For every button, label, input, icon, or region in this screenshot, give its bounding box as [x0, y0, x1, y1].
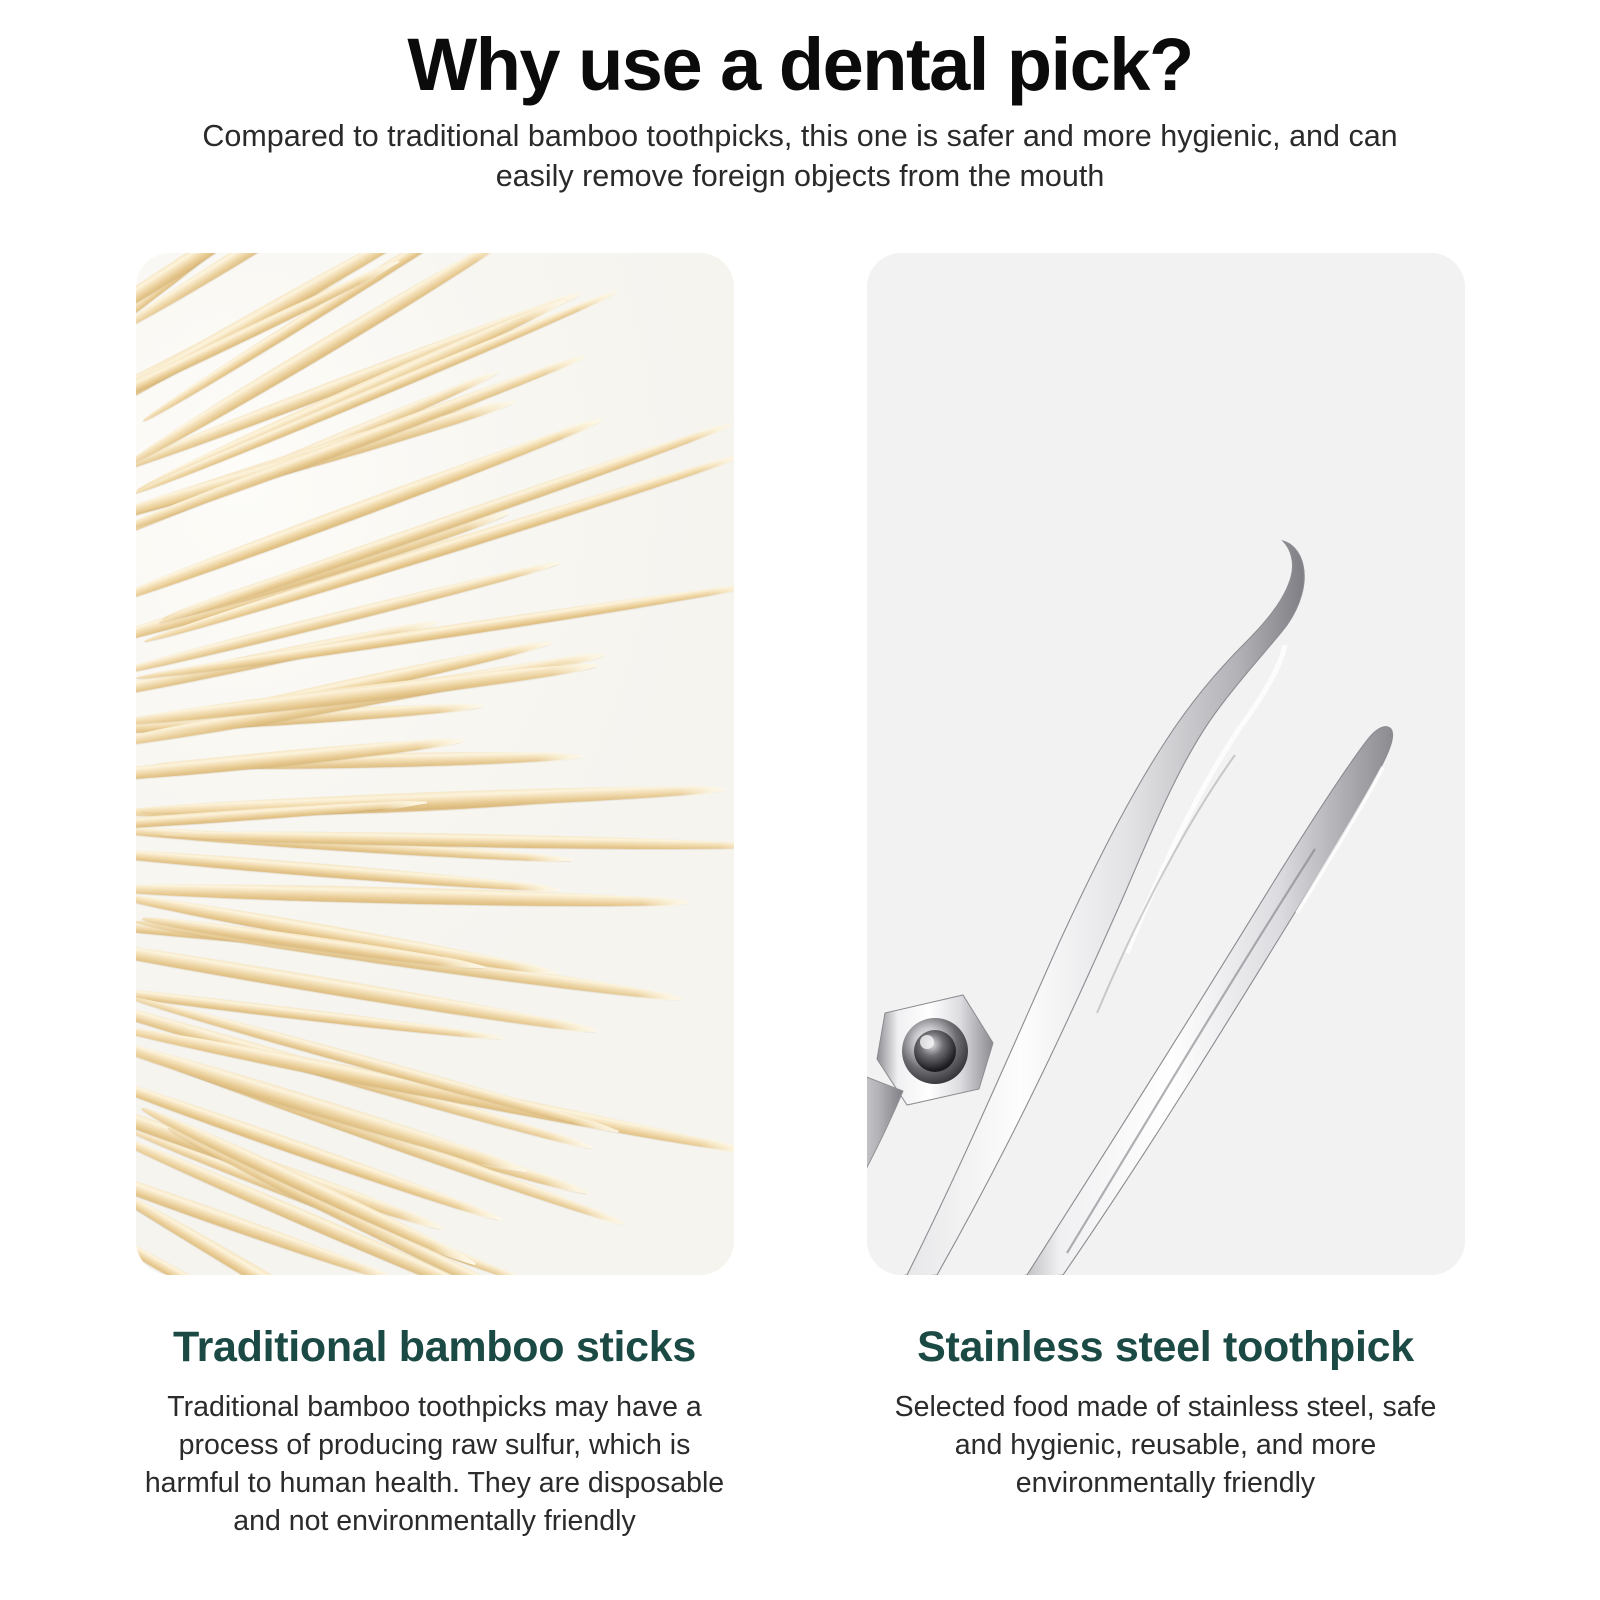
caption-title-stainless-steel: Stainless steel toothpick [917, 1322, 1414, 1372]
bamboo-scene [136, 253, 734, 1275]
caption-title-traditional-bamboo: Traditional bamboo sticks [173, 1322, 696, 1372]
page-subtitle: Compared to traditional bamboo toothpick… [170, 116, 1430, 196]
caption-body-stainless-steel: Selected food made of stainless steel, s… [876, 1388, 1456, 1502]
upper-rivet-highlight [920, 1035, 934, 1049]
upper-rivet-hole [914, 1030, 956, 1072]
upper-arm-lower-shaft [867, 1071, 903, 1275]
steel-tweezers-illustration [867, 253, 1465, 1275]
header: Why use a dental pick? Compared to tradi… [0, 0, 1600, 196]
comparison-column-stainless-steel: Stainless steel toothpick Selected food … [867, 253, 1465, 1540]
bamboo-toothpicks-photo [136, 253, 734, 1275]
steel-scene [867, 253, 1465, 1275]
comparison-column-traditional-bamboo: Traditional bamboo sticks Traditional ba… [136, 253, 734, 1540]
comparison-columns: Traditional bamboo sticks Traditional ba… [0, 253, 1600, 1540]
stainless-steel-toothpick-photo [867, 253, 1465, 1275]
caption-body-traditional-bamboo: Traditional bamboo toothpicks may have a… [145, 1388, 725, 1540]
page-title: Why use a dental pick? [0, 22, 1600, 108]
infographic-page: Why use a dental pick? Compared to tradi… [0, 0, 1600, 1600]
hooked-prong [867, 541, 1304, 1275]
